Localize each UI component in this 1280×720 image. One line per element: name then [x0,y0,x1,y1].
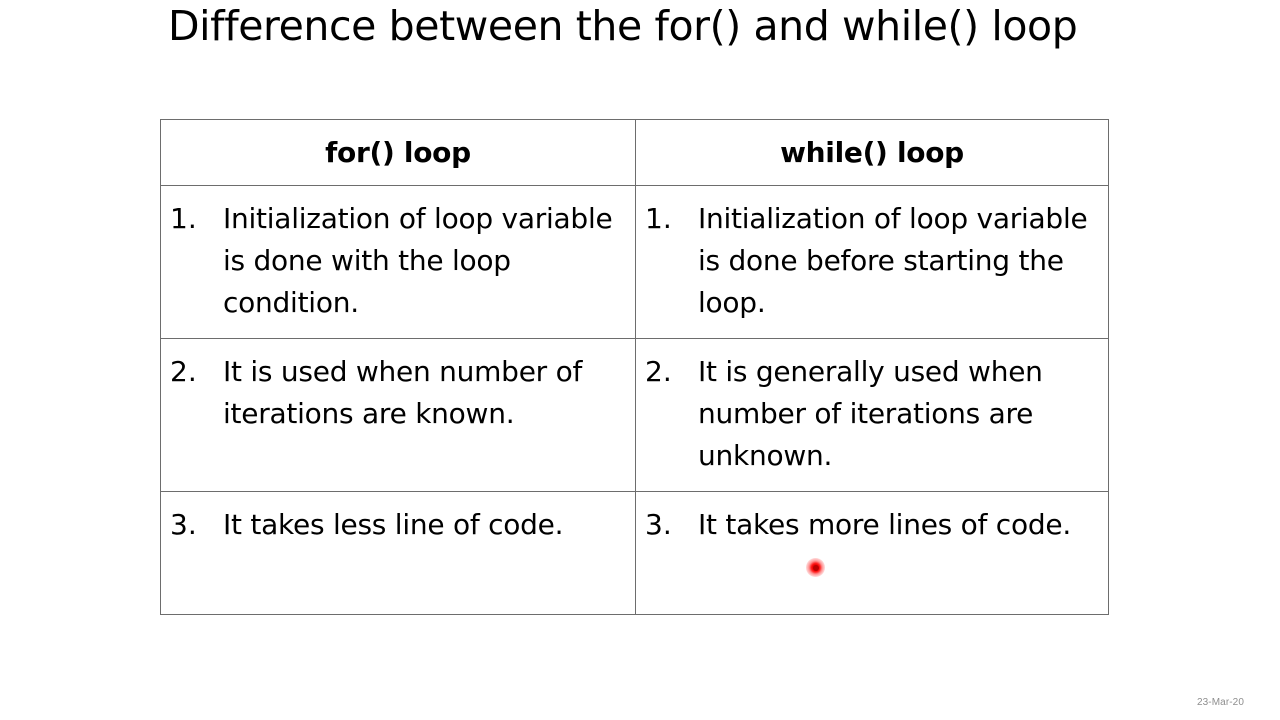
table-row: 1. Initialization of loop variable is do… [161,186,1109,339]
table-cell-while-2: 2. It is generally used when number of i… [636,339,1109,492]
list-item-number: 3. [170,504,223,546]
table-cell-for-3: 3. It takes less line of code. [161,492,636,615]
list-item-number: 2. [170,351,223,393]
table-cell-while-3: 3. It takes more lines of code. [636,492,1109,615]
table-header-for-loop: for() loop [161,120,636,186]
date-stamp: 23-Mar-20 [1197,697,1244,708]
table-header-while-loop: while() loop [636,120,1109,186]
list-item-number: 1. [645,198,698,240]
clipped-edge-text-fragments: \ = \ \ = s [1266,232,1280,512]
slide-canvas: Difference between the for() and while()… [0,0,1280,720]
table-header-label: for() loop [161,136,635,170]
list-item-number: 1. [170,198,223,240]
list-item-text: It is generally used when number of iter… [698,351,1098,477]
table-header-row: for() loop while() loop [161,120,1109,186]
table-cell-for-1: 1. Initialization of loop variable is do… [161,186,636,339]
page-title: Difference between the for() and while()… [168,0,1128,56]
table-cell-for-2: 2. It is used when number of iterations … [161,339,636,492]
table-cell-while-1: 1. Initialization of loop variable is do… [636,186,1109,339]
list-item-text: Initialization of loop variable is done … [698,198,1098,324]
comparison-table: for() loop while() loop 1. Initializatio… [160,119,1109,615]
table-header-label: while() loop [636,136,1108,170]
list-item-text: Initialization of loop variable is done … [223,198,625,324]
table-row: 3. It takes less line of code. 3. It tak… [161,492,1109,615]
list-item-text: It takes more lines of code. [698,504,1098,546]
list-item-text: It takes less line of code. [223,504,625,546]
list-item-text: It is used when number of iterations are… [223,351,625,435]
list-item-number: 2. [645,351,698,393]
list-item-number: 3. [645,504,698,546]
table-row: 2. It is used when number of iterations … [161,339,1109,492]
